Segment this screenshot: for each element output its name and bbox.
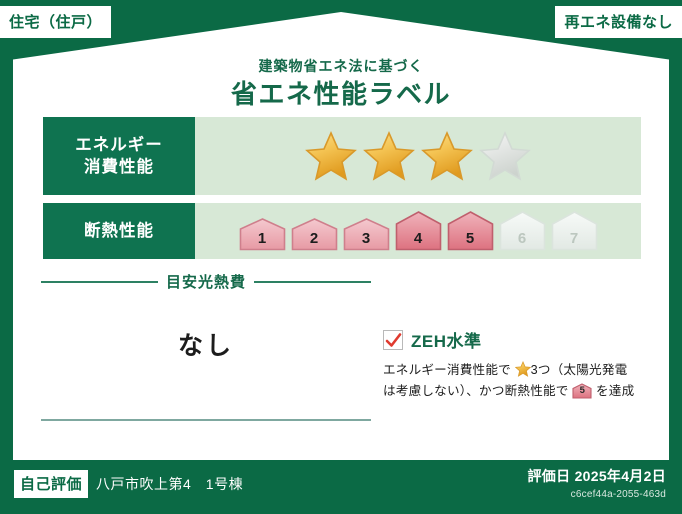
insulation-badge-2: 2 bbox=[291, 218, 338, 251]
estimated-utility-cost-section: 目安光熱費 なし bbox=[41, 271, 371, 362]
zeh-desc-part3: は考慮しない）、かつ断熱性能で bbox=[383, 384, 569, 398]
insulation-badge-5: 5 bbox=[447, 211, 494, 251]
insulation-performance-row: 断熱性能 bbox=[43, 203, 641, 259]
insulation-badge-4: 4 bbox=[395, 211, 442, 251]
lower-section: 目安光熱費 なし ZEH水準 bbox=[33, 271, 649, 446]
energy-performance-row: エネルギー 消費性能 bbox=[43, 117, 641, 195]
label-content: 建築物省エネ法に基づく 省エネ性能ラベル エネルギー 消費性能 bbox=[33, 24, 649, 448]
label-footer: 自己評価 八戸市吹上第4 1号棟 評価日 2025年4月2日 c6cef44a-… bbox=[0, 460, 682, 514]
insulation-level-badges: 1 2 3 bbox=[239, 211, 598, 251]
zeh-desc-part1: エネルギー消費性能で bbox=[383, 363, 511, 377]
energy-performance-label: 住宅（住戸） 再エネ設備なし 建築物省エネ法に基づく 省エネ性能ラベル エネルギ… bbox=[0, 0, 682, 514]
divider-left bbox=[41, 281, 158, 283]
check-icon bbox=[385, 332, 402, 349]
utility-cost-heading-text: 目安光熱費 bbox=[166, 271, 246, 292]
energy-label-line1: エネルギー bbox=[75, 134, 163, 156]
star-filled-icon bbox=[515, 361, 531, 377]
insulation-badge-label: 6 bbox=[499, 230, 546, 247]
zeh-desc-part4: を達成 bbox=[596, 384, 634, 398]
insulation-badge-6: 6 bbox=[499, 211, 546, 251]
insulation-performance-label-box: 断熱性能 bbox=[43, 203, 195, 259]
zeh-heading: ZEH水準 bbox=[383, 327, 645, 352]
insulation-levels-area: 1 2 3 bbox=[195, 203, 641, 259]
insulation-badge-1: 1 bbox=[239, 218, 286, 251]
insulation-badge-label: 5 bbox=[447, 230, 494, 247]
insulation-badge-3: 3 bbox=[343, 218, 390, 251]
evaluation-date: 評価日 2025年4月2日 bbox=[527, 466, 666, 486]
star-filled-icon bbox=[421, 130, 473, 182]
insulation-badge-label: 3 bbox=[343, 230, 390, 247]
insulation-badge-7: 7 bbox=[551, 211, 598, 251]
insulation-badge-label: 7 bbox=[551, 230, 598, 247]
evaluation-date-block: 評価日 2025年4月2日 c6cef44a-2055-463d bbox=[527, 466, 666, 500]
star-filled-icon bbox=[363, 130, 415, 182]
evaluation-info: 自己評価 八戸市吹上第4 1号棟 bbox=[14, 470, 243, 498]
divider-right bbox=[254, 281, 371, 283]
star-rating bbox=[305, 130, 531, 182]
energy-label-line2: 消費性能 bbox=[84, 156, 154, 178]
insulation-badge-label: 1 bbox=[239, 230, 286, 247]
building-name: 八戸市吹上第4 1号棟 bbox=[96, 474, 243, 494]
zeh-description: エネルギー消費性能で 3つ（太陽光発電 は考慮しない）、かつ断熱性能で 5 を達… bbox=[383, 360, 645, 402]
zeh-desc-part2: 3つ（太陽光発電 bbox=[531, 363, 628, 377]
utility-cost-value: なし bbox=[41, 326, 371, 362]
page-title: 省エネ性能ラベル bbox=[33, 74, 649, 111]
star-filled-icon bbox=[305, 130, 357, 182]
insulation-badge-label: 2 bbox=[291, 230, 338, 247]
utility-cost-bottom-divider bbox=[41, 419, 371, 421]
energy-performance-label-box: エネルギー 消費性能 bbox=[43, 117, 195, 195]
building-type-tag: 住宅（住戸） bbox=[0, 6, 111, 38]
utility-cost-heading: 目安光熱費 bbox=[41, 271, 371, 292]
energy-stars-area bbox=[195, 117, 641, 195]
label-subtitle: 建築物省エネ法に基づく bbox=[33, 56, 649, 76]
label-id: c6cef44a-2055-463d bbox=[527, 489, 666, 500]
label-sheet: 建築物省エネ法に基づく 省エネ性能ラベル エネルギー 消費性能 bbox=[13, 12, 669, 460]
zeh-checkbox[interactable] bbox=[383, 330, 403, 350]
insulation-badge-label: 4 bbox=[395, 230, 442, 247]
self-evaluation-badge: 自己評価 bbox=[14, 470, 88, 498]
insulation-label-text: 断熱性能 bbox=[84, 220, 154, 242]
zeh-title: ZEH水準 bbox=[411, 327, 482, 352]
star-empty-icon bbox=[479, 130, 531, 182]
zeh-achieved-badge-label: 5 bbox=[572, 383, 592, 399]
zeh-achieved-badge: 5 bbox=[572, 383, 592, 399]
zeh-section: ZEH水準 エネルギー消費性能で 3つ（太陽光発電 は考慮しない）、かつ断熱性能… bbox=[383, 327, 645, 402]
renewable-equipment-tag: 再エネ設備なし bbox=[555, 6, 682, 38]
